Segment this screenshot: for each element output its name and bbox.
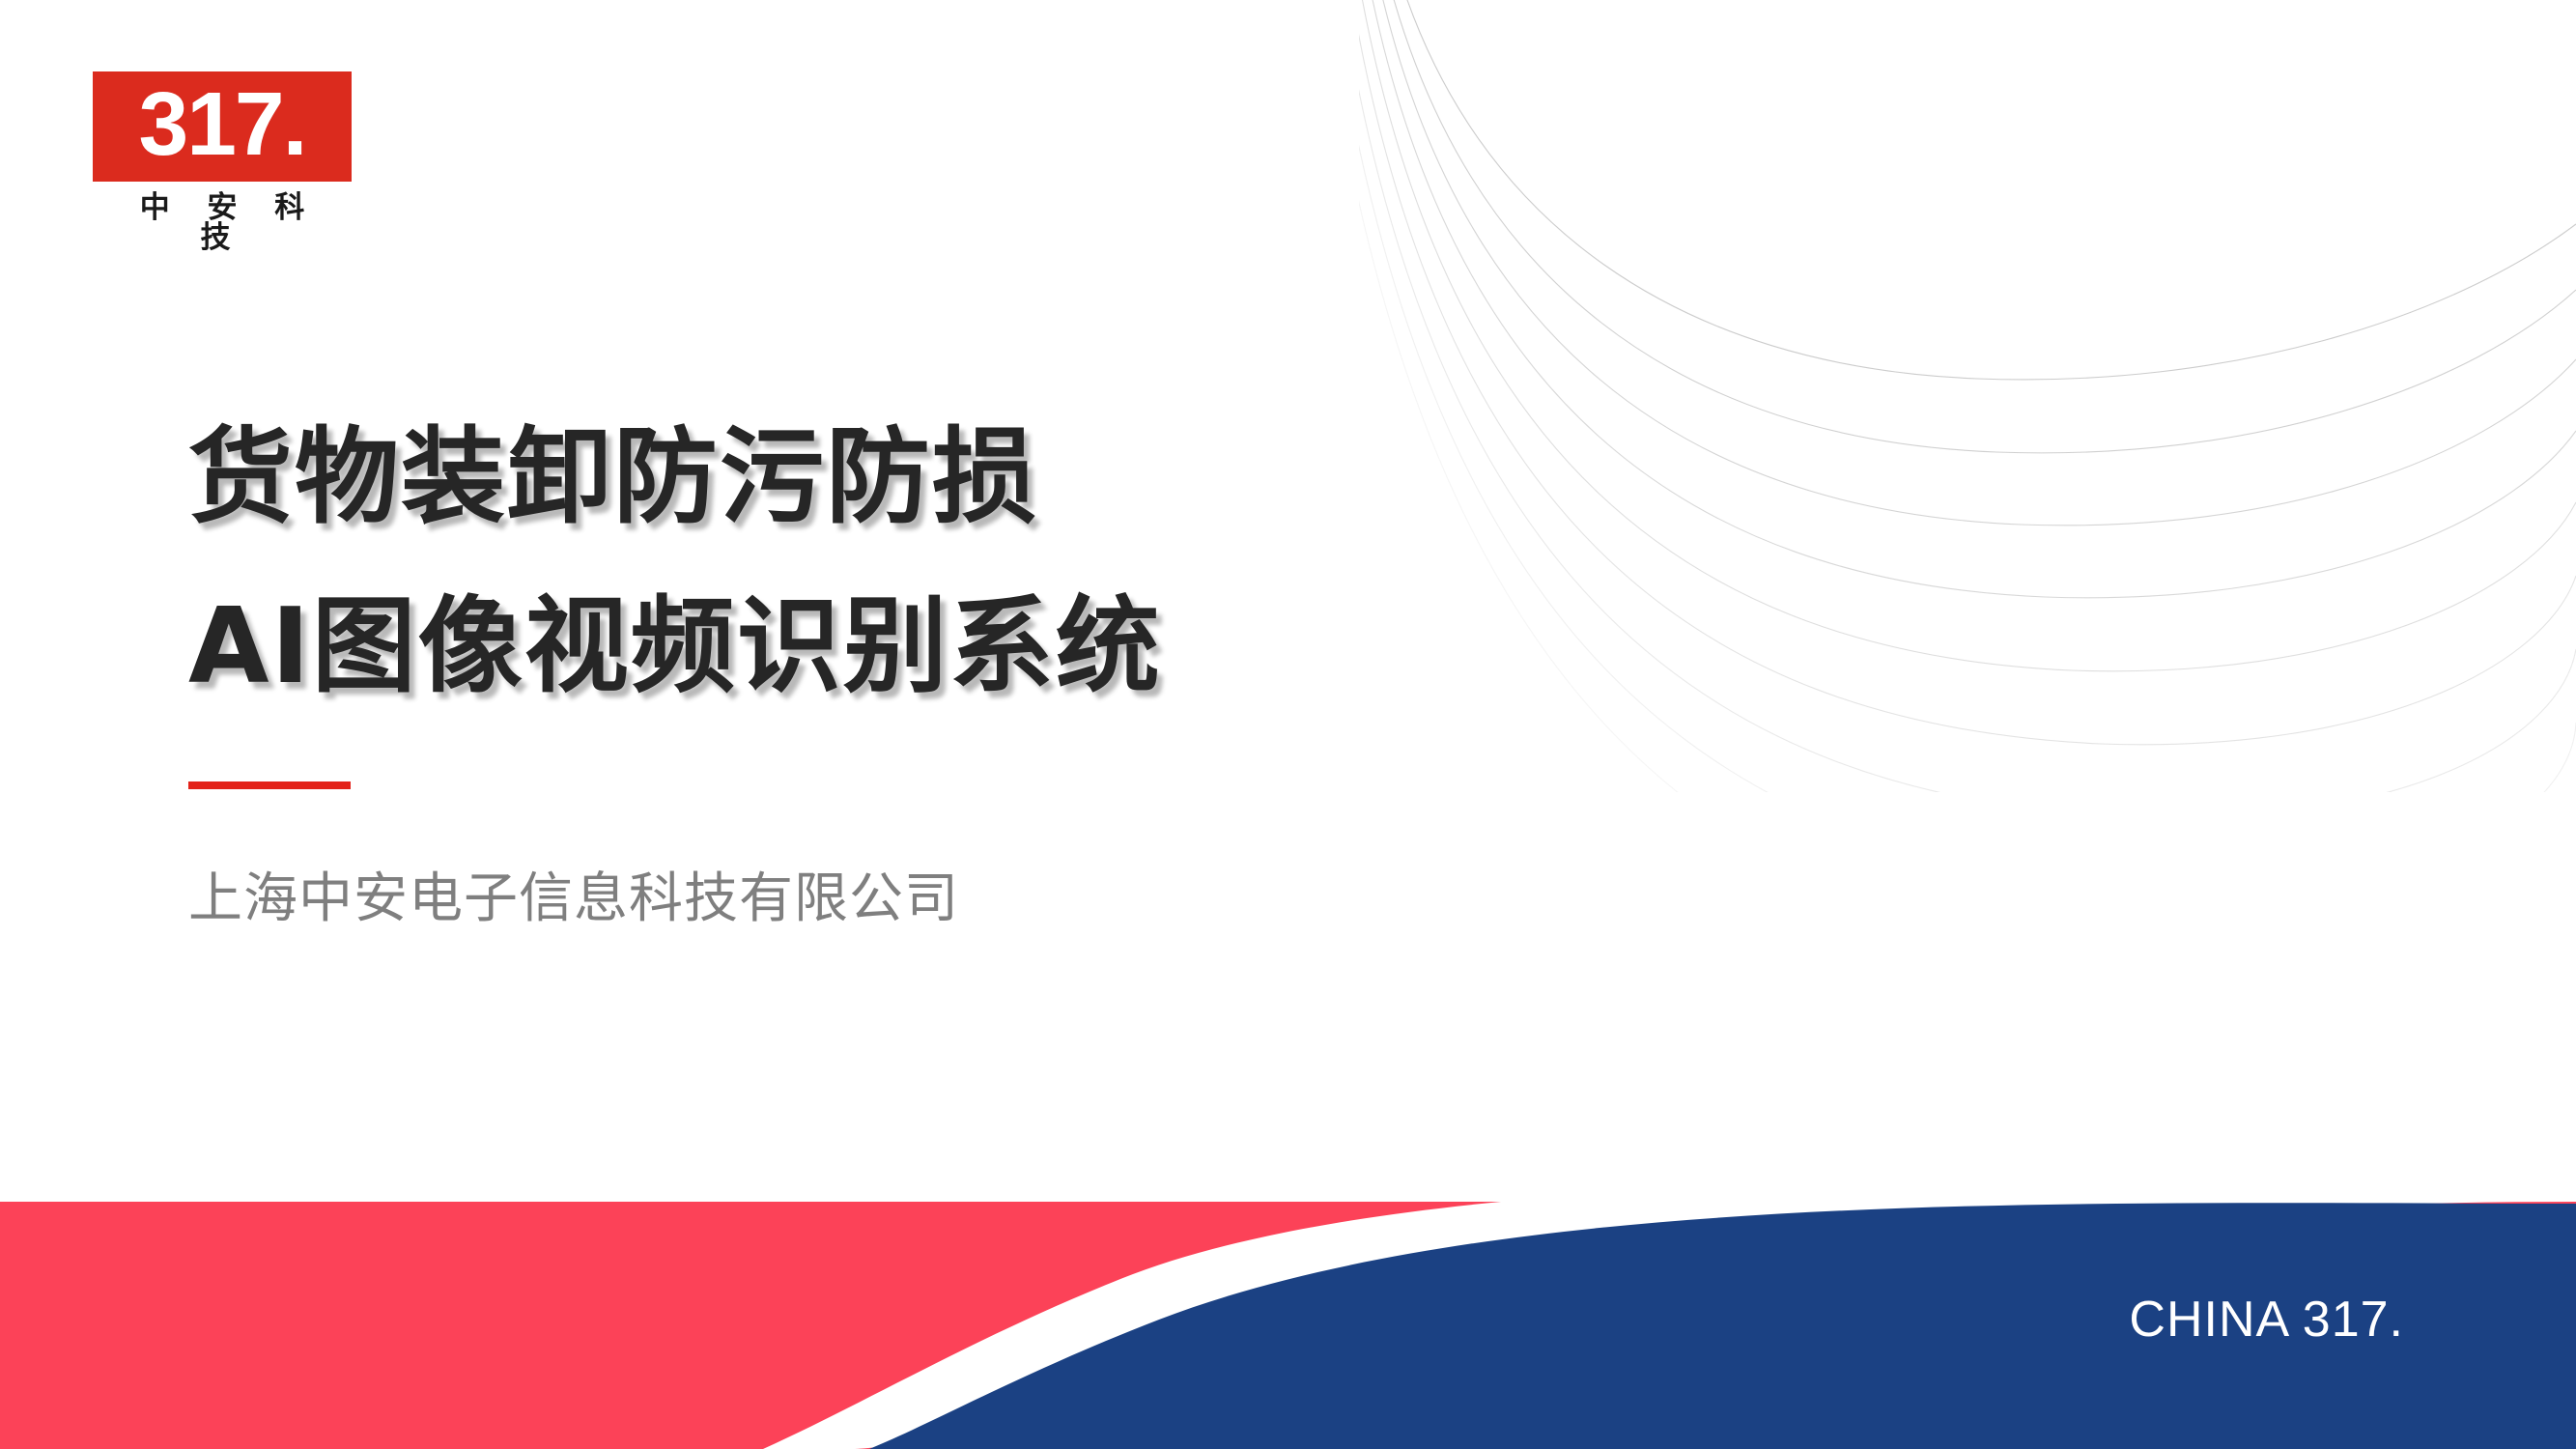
bottom-banner: CHINA 317. [0,1202,2576,1449]
title-slide: 317. 中 安 科 技 货物装卸防污防损 AI图像视频识别系统 上海中安电子信… [0,0,2576,1449]
company-subtitle: 上海中安电子信息科技有限公司 [188,866,959,933]
page-title-line-2: AI图像视频识别系统 [188,563,1444,732]
banner-footer-text: CHINA 317. [2129,1294,2404,1345]
logo: 317. 中 安 科 技 [93,71,352,253]
page-title: 货物装卸防污防损 AI图像视频识别系统 [188,394,1444,732]
logo-mark-text: 317. [138,79,305,169]
title-divider-rule [188,781,351,789]
logo-company-short: 中 安 科 技 [93,193,352,253]
logo-mark: 317. [93,71,352,182]
page-title-line-1: 货物装卸防污防损 [188,394,1444,563]
decorative-curve-fan [1359,0,2576,792]
